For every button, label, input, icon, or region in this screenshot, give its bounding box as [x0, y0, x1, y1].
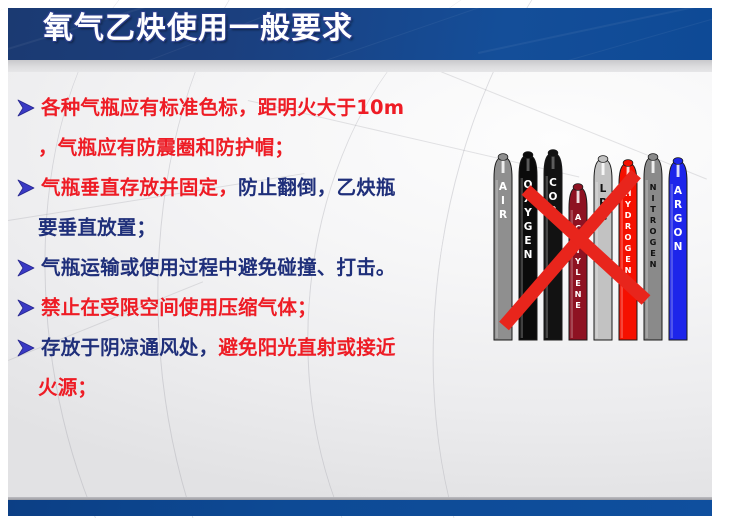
bullet-line: 火源； — [14, 368, 484, 408]
cylinder-label: ARGON — [674, 185, 683, 253]
bullet-line: 要垂直放置； — [14, 208, 484, 248]
bullet-text: 禁止在受限空间使用压缩气体； — [41, 295, 317, 321]
gas-cylinder-argon: ARGON — [669, 158, 687, 340]
bullet-text-segment: 气瓶垂直存放并固定， — [41, 176, 238, 199]
arrow-bullet-icon — [14, 299, 41, 317]
bullet-text-segment: 火源； — [38, 376, 97, 399]
bullet-line: 存放于阴凉通风处，避免阳光直射或接近 — [14, 328, 484, 368]
bullet-text: 要垂直放置； — [38, 215, 156, 241]
background-top-shade — [8, 60, 712, 72]
bullet-text-segment: 气瓶运输或使用过程中避免碰撞、打击。 — [41, 256, 396, 279]
slide-canvas: 氧气乙炔使用一般要求 各种气瓶应有标准色标，距明火大于10m，气瓶应有防震圈和防… — [0, 0, 730, 518]
banner-streak — [568, 8, 712, 60]
gas-cylinder-acetylene: ACETYLENE — [569, 184, 587, 340]
bullet-line: 禁止在受限空间使用压缩气体； — [14, 288, 484, 328]
bullet-line: 气瓶运输或使用过程中避免碰撞、打击。 — [14, 248, 484, 288]
bullet-text: 气瓶运输或使用过程中避免碰撞、打击。 — [41, 255, 396, 281]
bullet-text-segment: 禁止在受限空间使用压缩气体； — [41, 296, 317, 319]
bullet-list: 各种气瓶应有标准色标，距明火大于10m，气瓶应有防震圈和防护帽；气瓶垂直存放并固… — [14, 88, 484, 408]
bullet-text: 气瓶垂直存放并固定，防止翻倒，乙炔瓶 — [41, 175, 396, 201]
bullet-text-segment: 防止翻倒，乙炔瓶 — [238, 176, 396, 199]
bullet-line: 各种气瓶应有标准色标，距明火大于10m — [14, 88, 484, 128]
bullet-text-segment: 要垂直放置； — [38, 216, 156, 239]
footer-bar — [8, 500, 712, 516]
bullet-text: 各种气瓶应有标准色标，距明火大于10m — [41, 95, 404, 121]
arrow-bullet-icon — [14, 99, 41, 117]
bullet-text-segment: 避免阳光直射或接近 — [218, 336, 395, 359]
bullet-text-segment: 存放于阴凉通风处， — [41, 336, 218, 359]
bullet-text: 存放于阴凉通风处，避免阳光直射或接近 — [41, 335, 396, 361]
arrow-bullet-icon — [14, 179, 41, 197]
gas-cylinders-svg: AIROXYGENCO2ACETYLENELPGHYDROGENNITROGEN… — [486, 148, 700, 348]
bullet-line: ，气瓶应有防震圈和防护帽； — [14, 128, 484, 168]
bullet-text-segment: ，气瓶应有防震圈和防护帽； — [38, 136, 294, 159]
arrow-bullet-icon — [14, 259, 41, 277]
banner-streak — [478, 8, 712, 54]
bullet-text: 火源； — [38, 375, 97, 401]
gas-cylinder-co2: CO2 — [544, 150, 562, 340]
slide-title: 氧气乙炔使用一般要求 — [43, 11, 353, 47]
bullet-text-segment: 各种气瓶应有标准色标，距明火大于10m — [41, 96, 404, 119]
bullet-line: 气瓶垂直存放并固定，防止翻倒，乙炔瓶 — [14, 168, 484, 208]
gas-cylinders-illustration: AIROXYGENCO2ACETYLENELPGHYDROGENNITROGEN… — [486, 148, 700, 348]
gas-cylinder-nitrogen: NITROGEN — [644, 154, 662, 340]
bullet-text: ，气瓶应有防震圈和防护帽； — [38, 135, 294, 161]
arrow-bullet-icon — [14, 339, 41, 357]
